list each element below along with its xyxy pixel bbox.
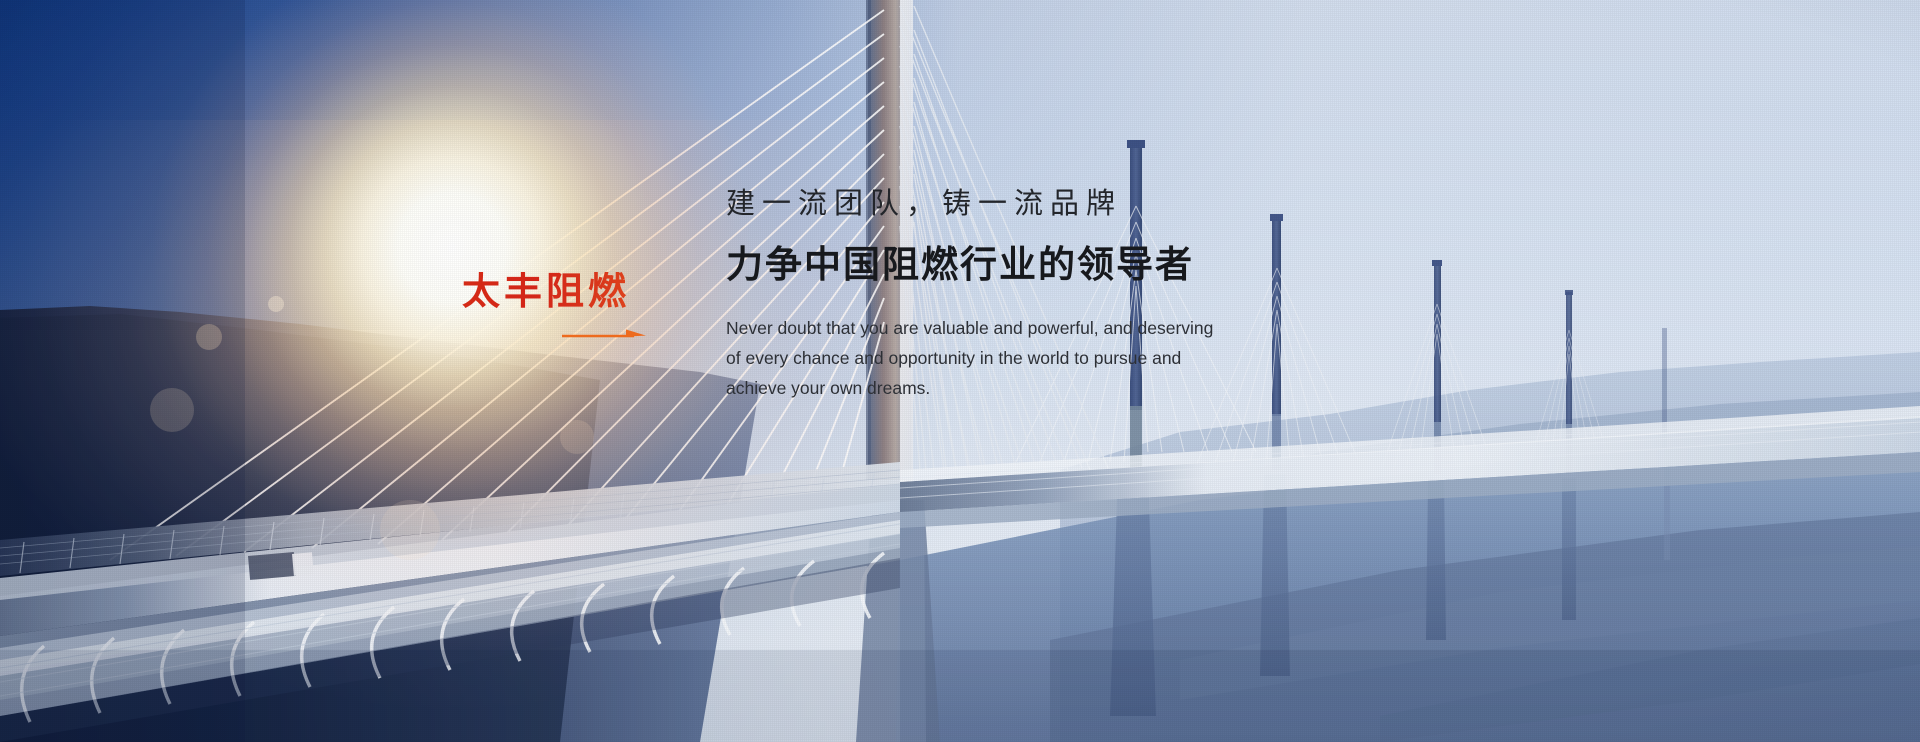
arrow-right-icon — [562, 328, 646, 342]
hero-subtitle: 建一流团队，铸一流品牌 — [726, 186, 1386, 221]
hero-headline: 力争中国阻燃行业的领导者 — [726, 243, 1386, 287]
hero-body-line-3: achieve your own dreams. — [726, 373, 1326, 403]
hero-text-block: 建一流团队，铸一流品牌 力争中国阻燃行业的领导者 Never doubt tha… — [726, 186, 1386, 403]
brand-logo-text: 太丰阻燃 — [462, 272, 642, 310]
hero-banner: 太丰阻燃 建一流团队，铸一流品牌 力争中国阻燃行业的领导者 Never doub… — [0, 0, 1920, 742]
hero-body-line-2: of every chance and opportunity in the w… — [726, 343, 1326, 373]
hero-body-copy: Never doubt that you are valuable and po… — [726, 313, 1326, 403]
brand-logo[interactable]: 太丰阻燃 — [462, 272, 642, 310]
hero-body-line-1: Never doubt that you are valuable and po… — [726, 313, 1326, 343]
